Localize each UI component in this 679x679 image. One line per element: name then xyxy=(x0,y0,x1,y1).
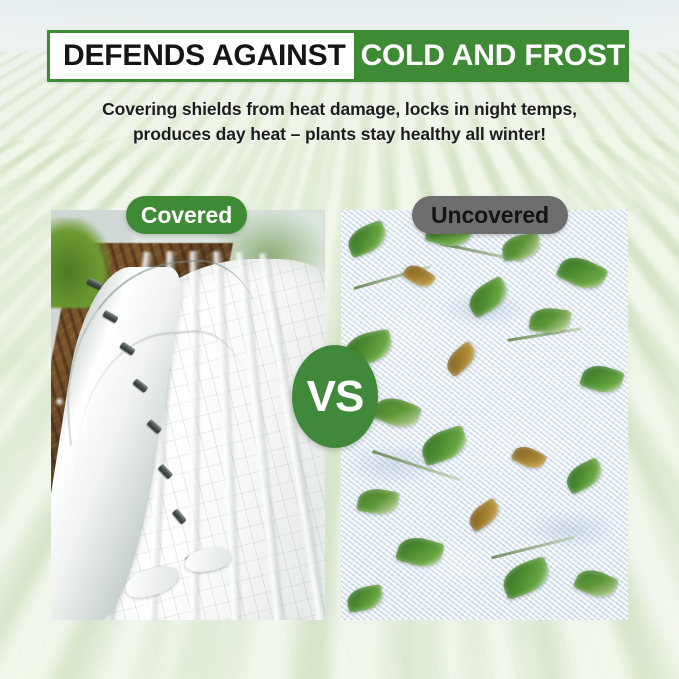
badge-covered: Covered xyxy=(126,196,247,234)
photo-covered xyxy=(51,210,325,620)
infographic-root: DEFENDS AGAINST COLD AND FROST Covering … xyxy=(0,0,679,679)
headline-text-emphasis: DEFENDS AGAINST xyxy=(50,33,354,79)
vs-divider-badge: VS xyxy=(292,345,378,448)
headline-banner: DEFENDS AGAINST COLD AND FROST xyxy=(47,30,629,82)
subtitle-line-2: produces day heat – plants stay healthy … xyxy=(50,122,629,147)
photo-uncovered xyxy=(341,210,628,620)
subtitle-line-1: Covering shields from heat damage, locks… xyxy=(50,97,629,122)
subtitle-text: Covering shields from heat damage, locks… xyxy=(50,97,629,147)
headline-text-secondary: COLD AND FROST xyxy=(354,33,635,79)
badge-uncovered: Uncovered xyxy=(412,196,568,234)
